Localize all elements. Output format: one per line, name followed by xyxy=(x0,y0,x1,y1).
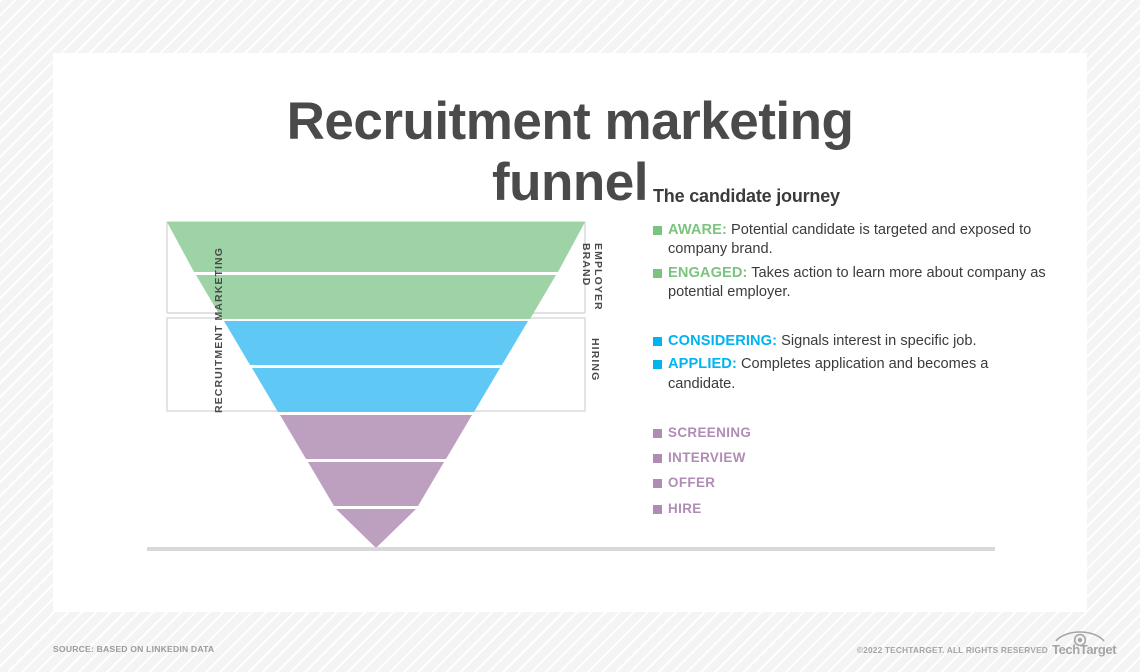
legend-text-screening: SCREENING xyxy=(668,424,751,443)
legend-term-hire: HIRE xyxy=(668,501,702,516)
funnel-band-applied xyxy=(252,368,500,412)
legend-term-engaged: ENGAGED: xyxy=(668,265,747,281)
baseline-rule xyxy=(147,547,995,551)
legend-text-aware: AWARE: Potential candidate is targeted a… xyxy=(668,221,1053,260)
legend-item-aware[interactable]: AWARE: Potential candidate is targeted a… xyxy=(653,221,1053,260)
legend-term-applied: APPLIED: xyxy=(668,356,737,372)
legend-swatch-hire xyxy=(653,505,662,514)
legend-item-hire[interactable]: HIRE xyxy=(653,500,1053,519)
funnel-band-aware xyxy=(167,222,585,272)
legend-text-considering: CONSIDERING: Signals interest in specifi… xyxy=(668,332,977,351)
techtarget-wordmark: TechTarget xyxy=(1052,642,1116,657)
legend-item-applied[interactable]: APPLIED: Completes application and becom… xyxy=(653,355,1053,394)
techtarget-logo: TechTarget xyxy=(1052,629,1108,657)
axis-label-recruitment-marketing: RECRUITMENT MARKETING xyxy=(213,247,225,413)
legend-item-engaged[interactable]: ENGAGED: Takes action to learn more abou… xyxy=(653,264,1053,303)
legend-term-screening: SCREENING xyxy=(668,425,751,440)
legend-term-aware: AWARE: xyxy=(668,222,727,238)
legend-gap-2 xyxy=(653,398,1053,424)
funnel-band-hire xyxy=(336,509,416,548)
legend-term-interview: INTERVIEW xyxy=(668,450,746,465)
legend-title: The candidate journey xyxy=(653,186,1053,207)
legend-term-considering: CONSIDERING: xyxy=(668,333,777,349)
footer-copyright: ©2022 TECHTARGET. ALL RIGHTS RESERVED xyxy=(857,645,1048,655)
bracket-label-hiring: HIRING xyxy=(589,338,601,381)
legend: The candidate journey AWARE: Potential c… xyxy=(653,186,1053,525)
funnel-band-engaged xyxy=(196,275,556,319)
legend-group-employer-brand: AWARE: Potential candidate is targeted a… xyxy=(653,221,1053,302)
legend-gap-1 xyxy=(653,306,1053,332)
infographic-card: Recruitment marketing funnel xyxy=(53,53,1087,612)
legend-swatch-engaged xyxy=(653,269,662,278)
legend-item-interview[interactable]: INTERVIEW xyxy=(653,449,1053,468)
legend-group-hiring: CONSIDERING: Signals interest in specifi… xyxy=(653,332,1053,394)
legend-item-offer[interactable]: OFFER xyxy=(653,474,1053,493)
legend-text-offer: OFFER xyxy=(668,474,715,493)
legend-swatch-aware xyxy=(653,226,662,235)
legend-text-hire: HIRE xyxy=(668,500,702,519)
legend-item-screening[interactable]: SCREENING xyxy=(653,424,1053,443)
legend-desc-considering: Signals interest in specific job. xyxy=(777,333,977,349)
legend-text-engaged: ENGAGED: Takes action to learn more abou… xyxy=(668,264,1053,303)
legend-term-offer: OFFER xyxy=(668,475,715,490)
funnel-band-screening xyxy=(280,415,472,459)
footer-source: SOURCE: BASED ON LINKEDIN DATA xyxy=(53,644,214,654)
legend-swatch-screening xyxy=(653,429,662,438)
legend-swatch-offer xyxy=(653,479,662,488)
legend-swatch-applied xyxy=(653,360,662,369)
legend-swatch-interview xyxy=(653,454,662,463)
legend-text-interview: INTERVIEW xyxy=(668,449,746,468)
legend-text-applied: APPLIED: Completes application and becom… xyxy=(668,355,1053,394)
legend-group-selection: SCREENING INTERVIEW OFFER HIRE xyxy=(653,424,1053,519)
funnel-band-interview xyxy=(308,462,444,506)
funnel-band-considering xyxy=(224,321,528,365)
bracket-label-employer-brand: EMPLOYER BRAND xyxy=(580,243,604,313)
legend-item-considering[interactable]: CONSIDERING: Signals interest in specifi… xyxy=(653,332,1053,351)
legend-swatch-considering xyxy=(653,337,662,346)
